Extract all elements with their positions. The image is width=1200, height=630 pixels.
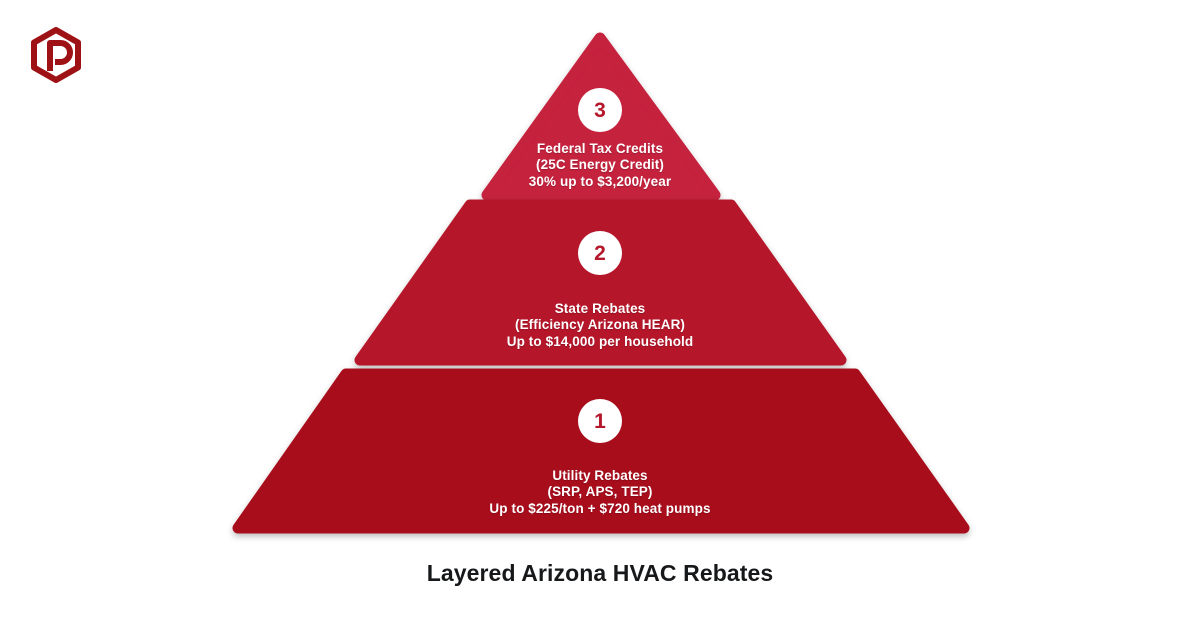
pyramid-tier-1-shape [238, 374, 964, 528]
page-title: Layered Arizona HVAC Rebates [0, 560, 1200, 587]
pyramid-diagram: 3 Federal Tax Credits (25C Energy Credit… [0, 0, 1200, 545]
pyramid-tier-2-shape [360, 205, 841, 360]
pyramid-tier-3-shape [487, 38, 715, 195]
pyramid-shapes [0, 0, 1200, 545]
